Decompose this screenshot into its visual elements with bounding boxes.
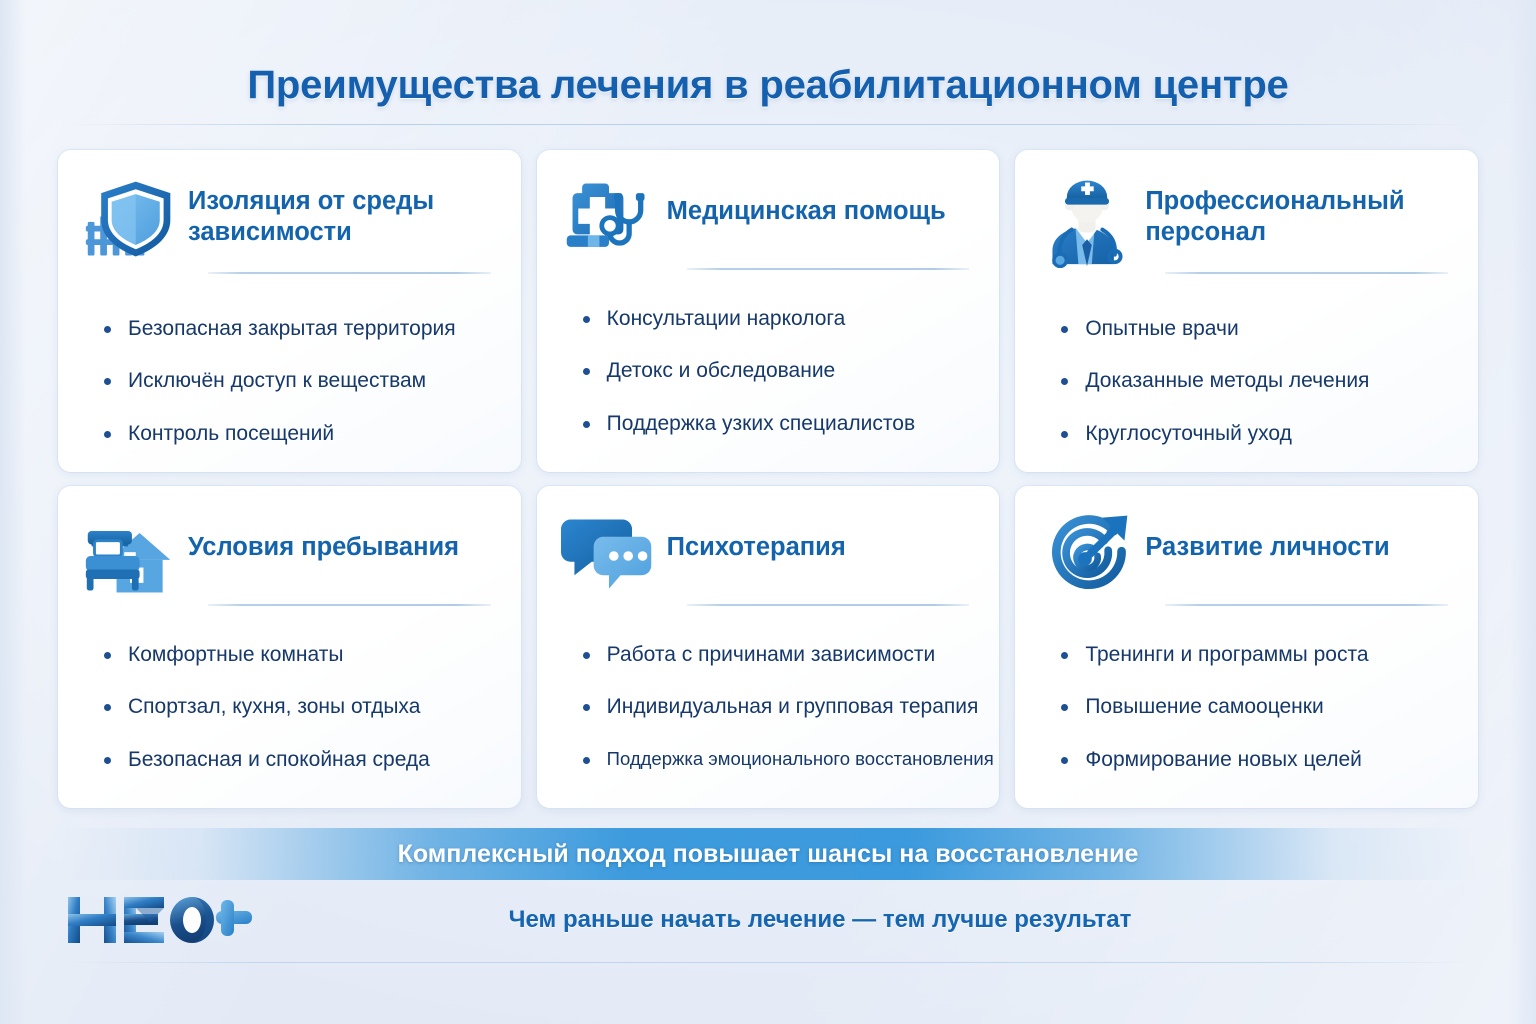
background-edge-left — [0, 0, 26, 1024]
list-item: Индивидуальная и групповая терапия — [583, 694, 970, 720]
list-item: Повышение самооценки — [1061, 694, 1448, 720]
benefit-card-personal-growth[interactable]: Развитие личности Тренинги и программы р… — [1015, 486, 1478, 808]
benefit-card-psychotherapy[interactable]: Психотерапия Работа с причинами зависимо… — [537, 486, 1000, 808]
brand-logo[interactable] — [60, 889, 284, 951]
card-bullet-list: Консультации нарколога Детокс и обследов… — [563, 268, 970, 437]
benefit-card-medical-help[interactable]: Медицинская помощь Консультации нарколог… — [537, 150, 1000, 472]
card-bullet-list: Работа с причинами зависимости Индивидуа… — [563, 604, 970, 770]
title-divider — [62, 124, 1474, 125]
card-divider — [208, 604, 491, 606]
list-item: Спортзал, кухня, зоны отдыха — [104, 694, 491, 720]
list-item: Безопасная и спокойная среда — [104, 747, 491, 773]
card-divider — [687, 604, 970, 606]
banner-text: Комплексный подход повышает шансы на вос… — [398, 840, 1139, 869]
footer-divider — [60, 962, 1476, 963]
card-header: Условия пребывания — [84, 512, 491, 604]
card-divider — [1165, 604, 1448, 606]
list-item: Контроль посещений — [104, 421, 491, 447]
doctor-icon — [1039, 172, 1135, 268]
shield-fence-icon — [82, 172, 178, 268]
card-title: Медицинская помощь — [667, 176, 970, 227]
card-divider — [687, 268, 970, 270]
list-item: Безопасная закрытая территория — [104, 316, 491, 342]
card-header: Изоляция от среды зависимости — [84, 176, 491, 268]
list-item: Консультации нарколога — [583, 306, 970, 332]
speech-bubbles-icon — [561, 508, 657, 604]
list-item: Поддержка узких специалистов — [583, 411, 970, 437]
card-title: Изоляция от среды зависимости — [188, 176, 491, 247]
summary-banner: Комплексный подход повышает шансы на вос… — [60, 828, 1476, 880]
benefits-grid: Изоляция от среды зависимости Безопасная… — [58, 150, 1478, 808]
footer: Чем раньше начать лечение — тем лучше ре… — [60, 880, 1476, 960]
list-item: Исключён доступ к веществам — [104, 368, 491, 394]
medical-kit-stethoscope-icon — [561, 172, 657, 268]
card-bullet-list: Тренинги и программы роста Повышение сам… — [1041, 604, 1448, 773]
benefit-card-staff[interactable]: Профессиональный персонал Опытные врачи … — [1015, 150, 1478, 472]
list-item: Работа с причинами зависимости — [583, 642, 970, 668]
card-title: Условия пребывания — [188, 512, 491, 563]
list-item: Комфортные комнаты — [104, 642, 491, 668]
target-arrow-icon — [1039, 508, 1135, 604]
card-title: Развитие личности — [1145, 512, 1448, 563]
footer-tagline: Чем раньше начать лечение — тем лучше ре… — [284, 906, 1476, 934]
benefit-card-accommodation[interactable]: Условия пребывания Комфортные комнаты Сп… — [58, 486, 521, 808]
page-title-container: Преимущества лечения в реабилитационном … — [0, 36, 1536, 135]
page-title: Преимущества лечения в реабилитационном … — [247, 63, 1288, 108]
list-item: Формирование новых целей — [1061, 747, 1448, 773]
list-item: Опытные врачи — [1061, 316, 1448, 342]
card-divider — [1165, 272, 1448, 274]
card-header: Профессиональный персонал — [1041, 176, 1448, 268]
card-divider — [208, 272, 491, 274]
card-bullet-list: Опытные врачи Доказанные методы лечения … — [1041, 268, 1448, 447]
bed-house-icon — [82, 508, 178, 604]
list-item: Доказанные методы лечения — [1061, 368, 1448, 394]
list-item: Поддержка эмоционального восстановления — [583, 747, 970, 770]
card-header: Развитие личности — [1041, 512, 1448, 604]
card-header: Медицинская помощь — [563, 176, 970, 268]
list-item: Тренинги и программы роста — [1061, 642, 1448, 668]
list-item: Детокс и обследование — [583, 358, 970, 384]
card-title: Психотерапия — [667, 512, 970, 563]
card-bullet-list: Безопасная закрытая территория Исключён … — [84, 268, 491, 447]
card-bullet-list: Комфортные комнаты Спортзал, кухня, зоны… — [84, 604, 491, 773]
card-title: Профессиональный персонал — [1145, 176, 1448, 247]
list-item: Круглосуточный уход — [1061, 421, 1448, 447]
benefit-card-isolation[interactable]: Изоляция от среды зависимости Безопасная… — [58, 150, 521, 472]
background-edge-right — [1510, 0, 1536, 1024]
card-header: Психотерапия — [563, 512, 970, 604]
